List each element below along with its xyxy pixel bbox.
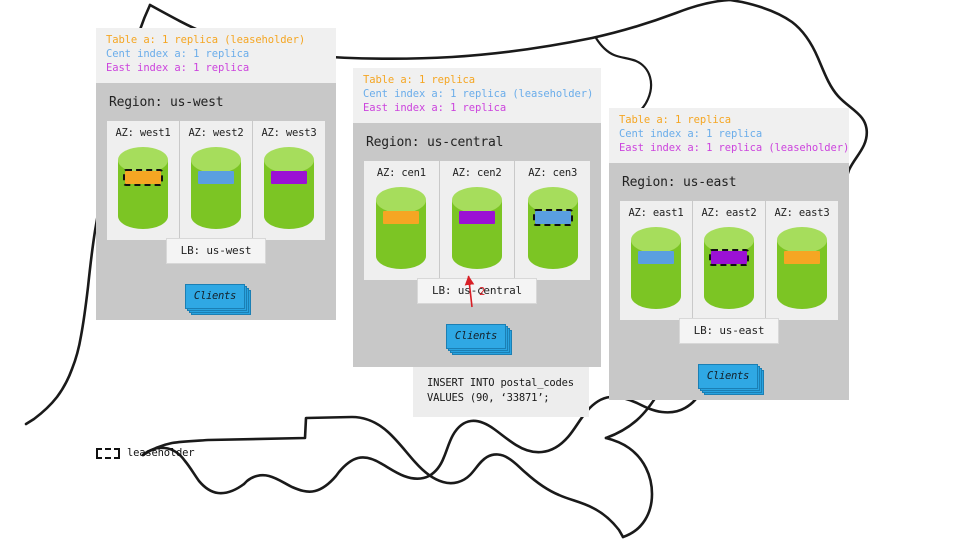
clients-label: Clients <box>194 290 236 302</box>
replica-bar-west1 <box>125 171 161 184</box>
legend-label: leaseholder <box>127 447 194 459</box>
region-body-us-west: Region: us-west AZ: west1 AZ: west2 <box>96 83 336 320</box>
region-panel-us-west: Table a: 1 replica (leaseholder) Cent in… <box>96 28 336 320</box>
az-label-east1: AZ: east1 <box>620 207 692 219</box>
az-cell-cen3[interactable]: AZ: cen3 <box>514 161 590 280</box>
region-panel-us-east: Table a: 1 replica Cent index a: 1 repli… <box>609 108 849 400</box>
load-balancer-us-east[interactable]: LB: us-east <box>679 318 780 344</box>
az-label-cen2: AZ: cen2 <box>440 167 515 179</box>
lb-wrap-us-central: LB: us-central <box>364 278 590 304</box>
replica-summary-us-central: Table a: 1 replica Cent index a: 1 repli… <box>353 68 601 123</box>
region-body-us-central: Region: us-central AZ: cen1 AZ: cen2 <box>353 123 601 367</box>
region-title-us-east: Region: us-east <box>622 175 838 190</box>
node-cylinder-west1[interactable] <box>117 146 169 230</box>
lb-wrap-us-west: LB: us-west <box>107 238 325 264</box>
az-label-west3: AZ: west3 <box>253 127 325 139</box>
az-cell-east3[interactable]: AZ: east3 <box>765 201 838 320</box>
replica-line-cent: Cent index a: 1 replica <box>106 48 326 62</box>
node-cylinder-east2[interactable] <box>703 226 755 310</box>
az-label-east2: AZ: east2 <box>693 207 765 219</box>
node-cylinder-west2[interactable] <box>190 146 242 230</box>
load-balancer-us-west[interactable]: LB: us-west <box>166 238 267 264</box>
node-cylinder-cen1[interactable] <box>375 186 427 270</box>
node-cylinder-east1[interactable] <box>630 226 682 310</box>
replica-line-cent: Cent index a: 1 replica <box>619 128 839 142</box>
clients-wrap-us-west: Clients <box>107 284 325 314</box>
replica-summary-us-east: Table a: 1 replica Cent index a: 1 repli… <box>609 108 849 163</box>
region-title-us-west: Region: us-west <box>109 95 325 110</box>
replica-bar-west3 <box>271 171 307 184</box>
clients-button-us-east[interactable]: Clients <box>698 364 760 390</box>
replica-line-cent: Cent index a: 1 replica (leaseholder) <box>363 88 591 102</box>
az-cell-east2[interactable]: AZ: east2 <box>692 201 765 320</box>
az-cell-cen1[interactable]: AZ: cen1 <box>364 161 439 280</box>
replica-line-east: East index a: 1 replica <box>363 102 591 116</box>
replica-line-table: Table a: 1 replica <box>363 74 591 88</box>
az-cell-west1[interactable]: AZ: west1 <box>107 121 179 240</box>
clients-wrap-us-central: Clients <box>364 324 590 354</box>
az-label-cen1: AZ: cen1 <box>364 167 439 179</box>
replica-line-table: Table a: 1 replica (leaseholder) <box>106 34 326 48</box>
node-cylinder-cen3[interactable] <box>527 186 579 270</box>
clients-label: Clients <box>455 330 497 342</box>
replica-bar-east3 <box>784 251 820 264</box>
replica-bar-west2 <box>198 171 234 184</box>
clients-label: Clients <box>707 370 749 382</box>
node-cylinder-west3[interactable] <box>263 146 315 230</box>
az-row-us-west: AZ: west1 AZ: west2 <box>107 121 325 240</box>
node-cylinder-cen2[interactable] <box>451 186 503 270</box>
lb-wrap-us-east: LB: us-east <box>620 318 838 344</box>
diagram-canvas: Table a: 1 replica (leaseholder) Cent in… <box>0 0 960 540</box>
replica-bar-cen1 <box>383 211 419 224</box>
node-cylinder-east3[interactable] <box>776 226 828 310</box>
region-body-us-east: Region: us-east AZ: east1 AZ: east2 <box>609 163 849 400</box>
clients-button-us-west[interactable]: Clients <box>185 284 247 310</box>
az-cell-east1[interactable]: AZ: east1 <box>620 201 692 320</box>
clients-button-face[interactable]: Clients <box>185 284 245 309</box>
az-label-west1: AZ: west1 <box>107 127 179 139</box>
replica-line-east: East index a: 1 replica (leaseholder) <box>619 142 839 156</box>
clients-button-us-central[interactable]: Clients <box>446 324 508 350</box>
replica-line-east: East index a: 1 replica <box>106 62 326 76</box>
replica-bar-east1 <box>638 251 674 264</box>
region-title-us-central: Region: us-central <box>366 135 590 150</box>
az-cell-west3[interactable]: AZ: west3 <box>252 121 325 240</box>
load-balancer-us-central[interactable]: LB: us-central <box>417 278 537 304</box>
clients-wrap-us-east: Clients <box>620 364 838 394</box>
az-row-us-east: AZ: east1 AZ: east2 <box>620 201 838 320</box>
sql-statement-box: INSERT INTO postal_codes VALUES (90, ‘33… <box>413 367 589 417</box>
az-row-us-central: AZ: cen1 AZ: cen2 <box>364 161 590 280</box>
az-label-east3: AZ: east3 <box>766 207 838 219</box>
replica-bar-cen2 <box>459 211 495 224</box>
replica-bar-east2 <box>711 251 747 264</box>
replica-summary-us-west: Table a: 1 replica (leaseholder) Cent in… <box>96 28 336 83</box>
az-label-cen3: AZ: cen3 <box>515 167 590 179</box>
legend: leaseholder <box>96 447 194 459</box>
replica-line-table: Table a: 1 replica <box>619 114 839 128</box>
az-cell-cen2[interactable]: AZ: cen2 <box>439 161 515 280</box>
az-label-west2: AZ: west2 <box>180 127 252 139</box>
az-cell-west2[interactable]: AZ: west2 <box>179 121 252 240</box>
leaseholder-swatch-icon <box>96 448 120 459</box>
region-panel-us-central: Table a: 1 replica Cent index a: 1 repli… <box>353 68 601 417</box>
replica-bar-cen3 <box>535 211 571 224</box>
clients-button-face[interactable]: Clients <box>698 364 758 389</box>
clients-button-face[interactable]: Clients <box>446 324 506 349</box>
